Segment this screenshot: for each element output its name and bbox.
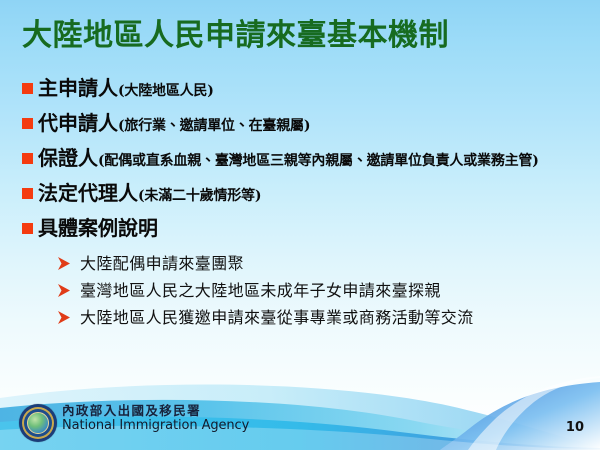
agency-name-en: National Immigration Agency	[62, 419, 249, 432]
sub-list: 大陸配偶申請來臺團聚 臺灣地區人民之大陸地區未成年子女申請來臺探親 大陸地區人民…	[0, 251, 600, 330]
list-item-note: (未滿二十歲情形等)	[138, 188, 261, 204]
square-bullet-icon	[22, 223, 33, 234]
list-item: 法定代理人(未滿二十歲情形等)	[0, 179, 600, 211]
list-item-note: (配偶或直系血親、臺灣地區三親等內親屬、邀請單位負責人或業務主管)	[98, 153, 539, 169]
sub-list-item-text: 臺灣地區人民之大陸地區未成年子女申請來臺探親	[80, 278, 441, 303]
page-title: 大陸地區人民申請來臺基本機制	[22, 16, 449, 56]
presentation-slide: 大陸地區人民申請來臺基本機制 主申請人(大陸地區人民) 代申請人(旅行業、邀請單…	[0, 0, 600, 450]
sub-list-item-text: 大陸地區人民獲邀申請來臺從事專業或商務活動等交流	[80, 305, 474, 330]
list-item-note: (大陸地區人民)	[118, 83, 214, 99]
arrow-bullet-icon	[56, 253, 72, 275]
list-item: 代申請人(旅行業、邀請單位、在臺親屬)	[0, 109, 600, 141]
sub-list-item: 大陸地區人民獲邀申請來臺從事專業或商務活動等交流	[0, 305, 600, 330]
slide-title-area: 大陸地區人民申請來臺基本機制	[0, 0, 600, 72]
agency-emblem-icon	[19, 404, 57, 442]
arrow-bullet-icon	[56, 280, 72, 302]
list-item-text: 法定代理人(未滿二十歲情形等)	[38, 179, 261, 211]
list-item-main: 法定代理人	[38, 181, 138, 205]
list-item-main: 主申請人	[38, 76, 118, 100]
list-item-text: 主申請人(大陸地區人民)	[38, 74, 214, 106]
list-item-note: (旅行業、邀請單位、在臺親屬)	[118, 118, 310, 134]
agency-name-block: 內政部入出國及移民署 National Immigration Agency	[62, 405, 249, 432]
list-item: 主申請人(大陸地區人民)	[0, 74, 600, 106]
square-bullet-icon	[22, 153, 33, 164]
list-item-text: 代申請人(旅行業、邀請單位、在臺親屬)	[38, 109, 310, 141]
square-bullet-icon	[22, 118, 33, 129]
list-item: 具體案例說明	[0, 214, 600, 246]
square-bullet-icon	[22, 83, 33, 94]
sub-list-item: 臺灣地區人民之大陸地區未成年子女申請來臺探親	[0, 278, 600, 303]
list-item: 保證人(配偶或直系血親、臺灣地區三親等內親屬、邀請單位負責人或業務主管)	[0, 144, 600, 176]
arrow-bullet-icon	[56, 307, 72, 329]
sub-list-item-text: 大陸配偶申請來臺團聚	[80, 251, 244, 276]
agency-name-zh: 內政部入出國及移民署	[62, 405, 249, 418]
page-number: 10	[566, 420, 584, 435]
list-item-main: 保證人	[38, 146, 98, 170]
slide-body: 主申請人(大陸地區人民) 代申請人(旅行業、邀請單位、在臺親屬) 保證人(配偶或…	[0, 74, 600, 374]
square-bullet-icon	[22, 188, 33, 199]
list-item-main: 代申請人	[38, 111, 118, 135]
list-item-text: 保證人(配偶或直系血親、臺灣地區三親等內親屬、邀請單位負責人或業務主管)	[38, 144, 539, 176]
list-item-text: 具體案例說明	[38, 214, 158, 246]
emblem-globe-icon	[27, 412, 49, 434]
list-item-main: 具體案例說明	[38, 216, 158, 240]
sub-list-item: 大陸配偶申請來臺團聚	[0, 251, 600, 276]
